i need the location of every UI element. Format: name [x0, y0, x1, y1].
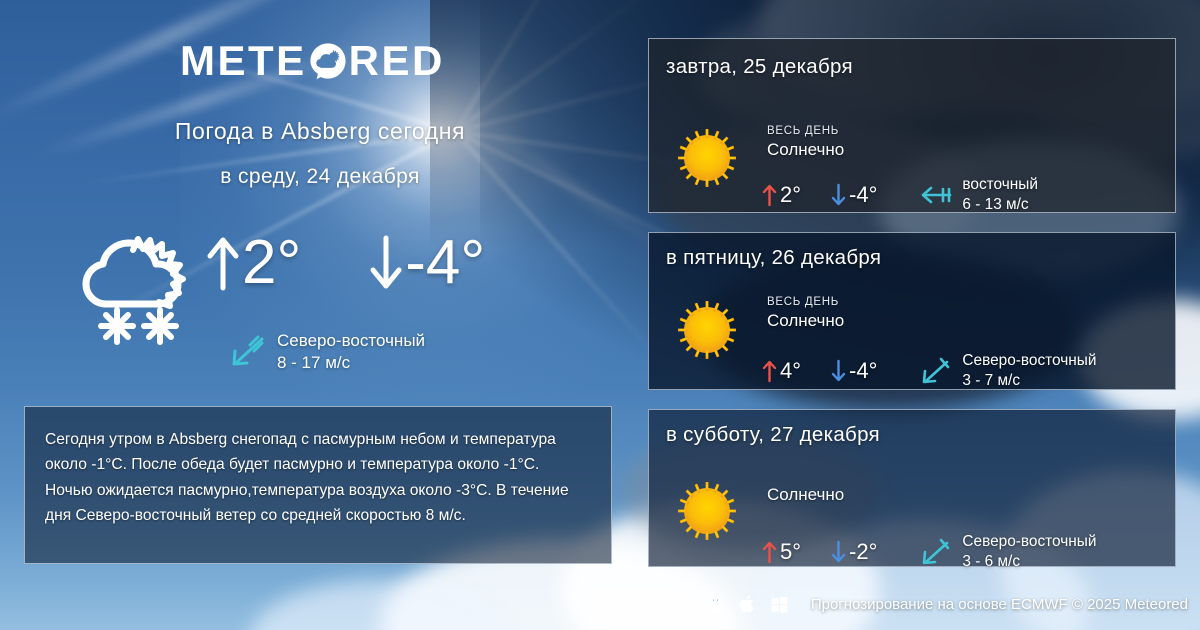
today-temperatures: 2° -4°	[206, 232, 485, 294]
weather-description-text: Сегодня утром в Absberg снегопад с пасму…	[45, 427, 589, 528]
forecast-condition-label: Солнечно	[767, 311, 844, 331]
forecast-min-temp-value: -4°	[849, 182, 877, 208]
forecast-wind-direction: Северо-восточный	[962, 351, 1096, 371]
page-title: Погода в Absberg сегодня	[0, 118, 640, 145]
arrow-down-icon	[831, 183, 846, 207]
sun-icon	[676, 480, 738, 542]
forecast-card-title: в субботу, 27 декабря	[666, 423, 880, 447]
forecast-condition-label: Солнечно	[767, 485, 844, 505]
arrow-up-icon	[762, 359, 777, 383]
forecast-wind-speed: 6 - 13 м/с	[962, 195, 1038, 215]
forecast-wind-direction: Северо-восточный	[962, 532, 1096, 552]
wind-arrow-southwest-icon	[919, 538, 953, 566]
forecast-card[interactable]: в субботу, 27 декабря	[648, 409, 1176, 567]
forecast-min-temp: -2°	[831, 539, 877, 565]
forecast-wind: Северо-восточный 3 - 6 м/с	[919, 532, 1096, 572]
forecast-max-temp: 2°	[762, 182, 801, 208]
cloud-sun-bubble-icon	[309, 42, 347, 80]
forecast-min-temp-value: -2°	[849, 539, 877, 565]
sun-icon	[676, 299, 738, 361]
apple-icon[interactable]	[739, 594, 756, 614]
logo-text-part1: METE	[180, 40, 307, 82]
forecast-card-title: завтра, 25 декабря	[666, 55, 853, 79]
forecast-min-temp-value: -4°	[849, 358, 877, 384]
arrow-up-icon	[206, 232, 240, 294]
forecast-wind: восточный 6 - 13 м/с	[919, 175, 1038, 215]
today-max-temp: 2°	[206, 232, 301, 294]
weather-description-panel: Сегодня утром в Absberg снегопад с пасму…	[24, 406, 612, 564]
forecast-card-title: в пятницу, 26 декабря	[666, 246, 881, 270]
today-summary: 2° -4°	[0, 222, 640, 352]
forecast-condition: ВЕСЬ ДЕНЬ Солнечно	[767, 125, 844, 160]
footer: Прогнозирование на основе ECMWF © 2025 M…	[648, 594, 1188, 614]
today-wind-direction: Северо-восточный	[277, 330, 425, 352]
forecast-condition-label: Солнечно	[767, 140, 844, 160]
windows-icon[interactable]	[770, 595, 789, 614]
forecast-condition: Солнечно	[767, 482, 844, 505]
wind-arrow-west-icon	[919, 184, 953, 206]
forecast-wind-speed: 3 - 7 м/с	[962, 371, 1096, 391]
footer-credit: Прогнозирование на основе ECMWF © 2025 M…	[811, 596, 1188, 613]
platform-icons	[706, 594, 789, 614]
arrow-down-icon	[831, 540, 846, 564]
forecast-details: 2° -4°	[762, 175, 1038, 215]
forecast-min-temp: -4°	[831, 182, 877, 208]
forecast-period-label: ВЕСЬ ДЕНЬ	[767, 125, 844, 137]
forecast-max-temp: 5°	[762, 539, 801, 565]
today-wind: Северо-восточный 8 - 17 м/с	[228, 330, 425, 375]
today-max-temp-value: 2°	[242, 232, 301, 294]
logo-text-part2: RED	[349, 40, 445, 82]
forecast-max-temp: 4°	[762, 358, 801, 384]
wind-arrow-southwest-icon	[919, 357, 953, 385]
forecast-min-temp: -4°	[831, 358, 877, 384]
arrow-down-icon	[831, 359, 846, 383]
forecast-card[interactable]: завтра, 25 декабря	[648, 38, 1176, 213]
current-weather-panel: METE RED Погода в Absberg сегодня в сред…	[0, 0, 640, 630]
forecast-period-label: ВЕСЬ ДЕНЬ	[767, 296, 844, 308]
wind-arrow-southwest-icon	[228, 335, 268, 369]
today-min-temp: -4°	[369, 232, 485, 294]
arrow-down-icon	[369, 232, 403, 294]
forecast-max-temp-value: 2°	[780, 182, 801, 208]
today-wind-speed: 8 - 17 м/с	[277, 352, 425, 374]
forecast-details: 4° -4°	[762, 351, 1096, 391]
meteored-logo[interactable]: METE RED	[180, 40, 445, 82]
arrow-up-icon	[762, 183, 777, 207]
forecast-max-temp-value: 4°	[780, 358, 801, 384]
forecast-wind-speed: 3 - 6 м/с	[962, 552, 1096, 572]
forecast-condition: ВЕСЬ ДЕНЬ Солнечно	[767, 296, 844, 331]
page-subtitle: в среду, 24 декабря	[0, 165, 640, 189]
forecast-wind: Северо-восточный 3 - 7 м/с	[919, 351, 1096, 391]
arrow-up-icon	[762, 540, 777, 564]
sun-icon	[676, 127, 738, 189]
snow-cloud-sun-icon	[72, 224, 202, 349]
today-min-temp-value: -4°	[405, 232, 485, 294]
forecast-max-temp-value: 5°	[780, 539, 801, 565]
android-icon[interactable]	[706, 595, 725, 614]
forecast-cards: завтра, 25 декабря	[648, 0, 1200, 630]
forecast-wind-direction: восточный	[962, 175, 1038, 195]
forecast-details: 5° -2°	[762, 532, 1096, 572]
forecast-card[interactable]: в пятницу, 26 декабря	[648, 232, 1176, 390]
